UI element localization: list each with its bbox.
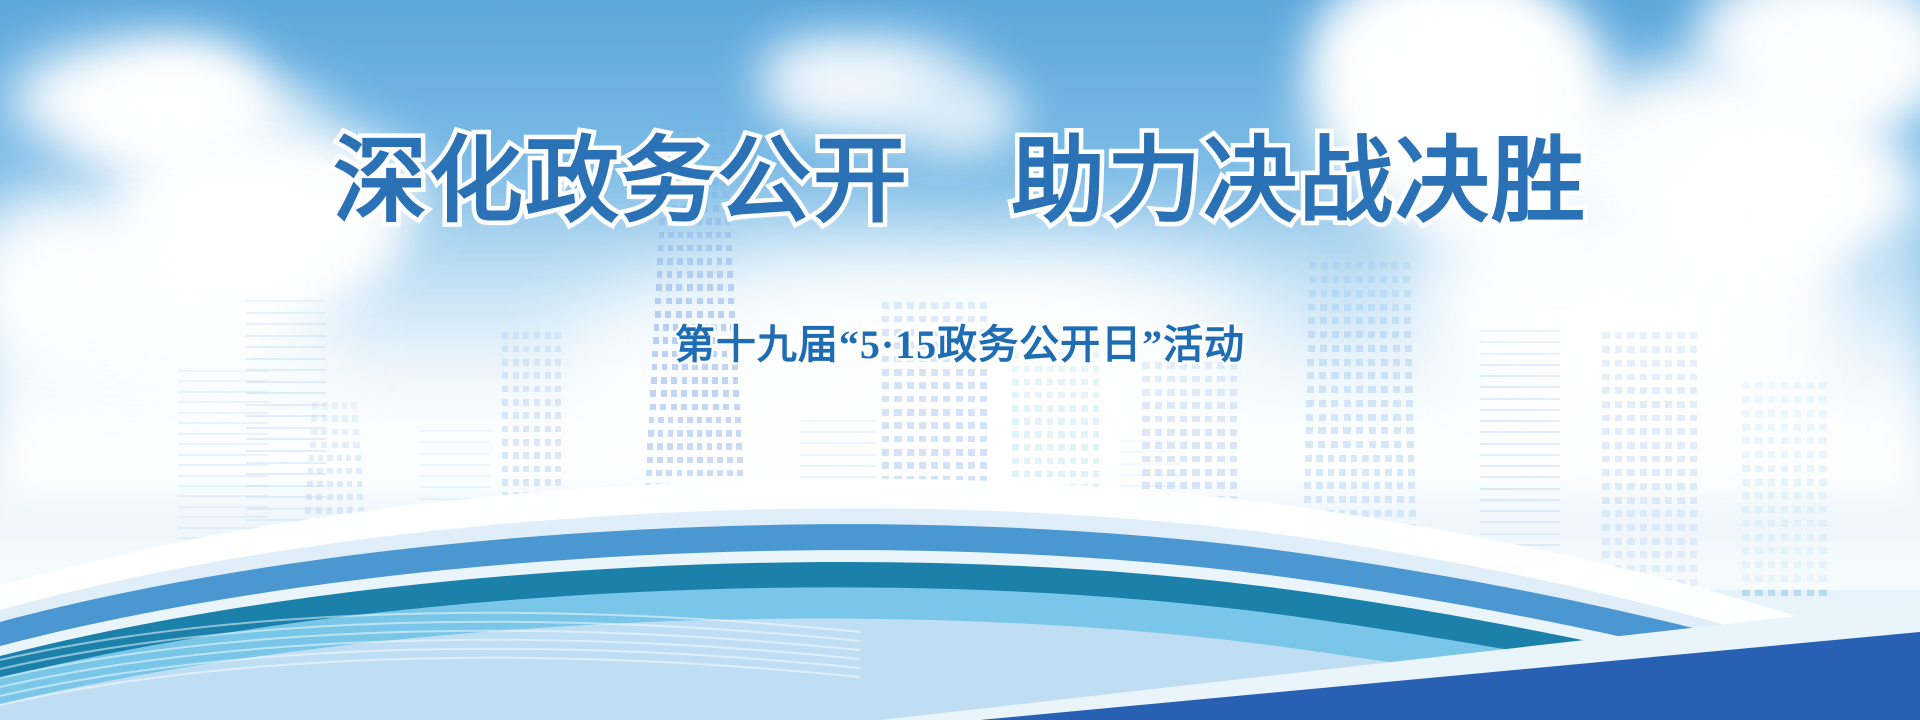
building-window [697,112,703,119]
building-window [665,112,671,119]
building-window [1392,290,1399,297]
building-window [697,258,703,265]
building-window [707,284,713,291]
building-window [707,271,713,278]
building-window [1344,276,1351,283]
building-window [968,302,975,309]
building-window [658,245,664,252]
building-window [907,302,914,309]
building-window [1321,290,1328,297]
building-window [687,271,693,278]
building-window [668,245,674,252]
building-window [1404,290,1411,297]
building-window [677,271,683,278]
event-subtitle: 第十九届“5·15政务公开日”活动 [0,312,1920,370]
building-window [726,258,732,265]
building-window [697,271,703,278]
building-window [728,284,734,291]
building-window [894,302,901,309]
building-window [1356,290,1363,297]
building-window [1368,304,1375,311]
building-window [956,302,963,309]
building-window [1321,276,1328,283]
building-window [656,284,662,291]
building-window [687,258,693,265]
building-window [728,298,734,305]
building-window [1333,262,1340,269]
building-window [1332,290,1339,297]
building-window [1380,290,1387,297]
building-window [980,302,987,309]
building-window [1380,276,1387,283]
building-window [717,258,723,265]
building-window [1392,304,1399,311]
building-window [657,258,663,265]
building-window [1309,262,1316,269]
building-window [1356,262,1363,269]
building-window [1320,304,1327,311]
building-window [1404,304,1411,311]
building-window [697,245,703,252]
building-window [676,284,682,291]
building-window [1344,304,1351,311]
building-window [1403,262,1410,269]
building-window [727,271,733,278]
building-window [718,298,724,305]
building-window [1332,304,1339,311]
building-window [882,302,889,309]
building-window [707,258,713,265]
building-window [667,271,673,278]
building-window [1380,262,1387,269]
building-window [1333,276,1340,283]
building-window [676,298,682,305]
building-window [717,284,723,291]
building-window [1309,290,1316,297]
building-window [1368,290,1375,297]
building-window [1309,276,1316,283]
building-window [1403,276,1410,283]
page-title: 深化政务公开 助力决战决胜 [0,132,1920,234]
building-window [718,112,724,119]
building-window [697,298,703,305]
building-window [666,298,672,305]
building-window [919,302,926,309]
building-window [1344,290,1351,297]
cloud-right-top-puff [1713,4,1876,84]
building-window [716,245,722,252]
building-window [697,284,703,291]
building-floor-line [246,300,326,302]
building-window [667,258,673,265]
building-window [1380,304,1387,311]
building-window [943,302,950,309]
building-window [707,298,713,305]
building-window [676,112,682,119]
building-window [1391,262,1398,269]
wave-ribbons [0,360,1920,720]
building-window [686,112,692,119]
event-banner: 深化政务公开 助力决战决胜 第十九届“5·15政务公开日”活动 [0,0,1920,720]
building-window [687,245,693,252]
building-window [687,284,693,291]
building-window [1308,304,1315,311]
building-window [1356,276,1363,283]
building-window [1368,262,1375,269]
building-window [717,271,723,278]
building-window [666,284,672,291]
building-window [1392,276,1399,283]
building-window [1368,276,1375,283]
building-window [1321,262,1328,269]
building-window [677,258,683,265]
building-window [677,245,683,252]
building-window [708,112,714,119]
building-window [655,298,661,305]
building-window [657,271,663,278]
building-window [726,245,732,252]
building-window [686,298,692,305]
building-window [1356,304,1363,311]
building-window [1345,262,1352,269]
building-window [706,245,712,252]
building-window [931,302,938,309]
